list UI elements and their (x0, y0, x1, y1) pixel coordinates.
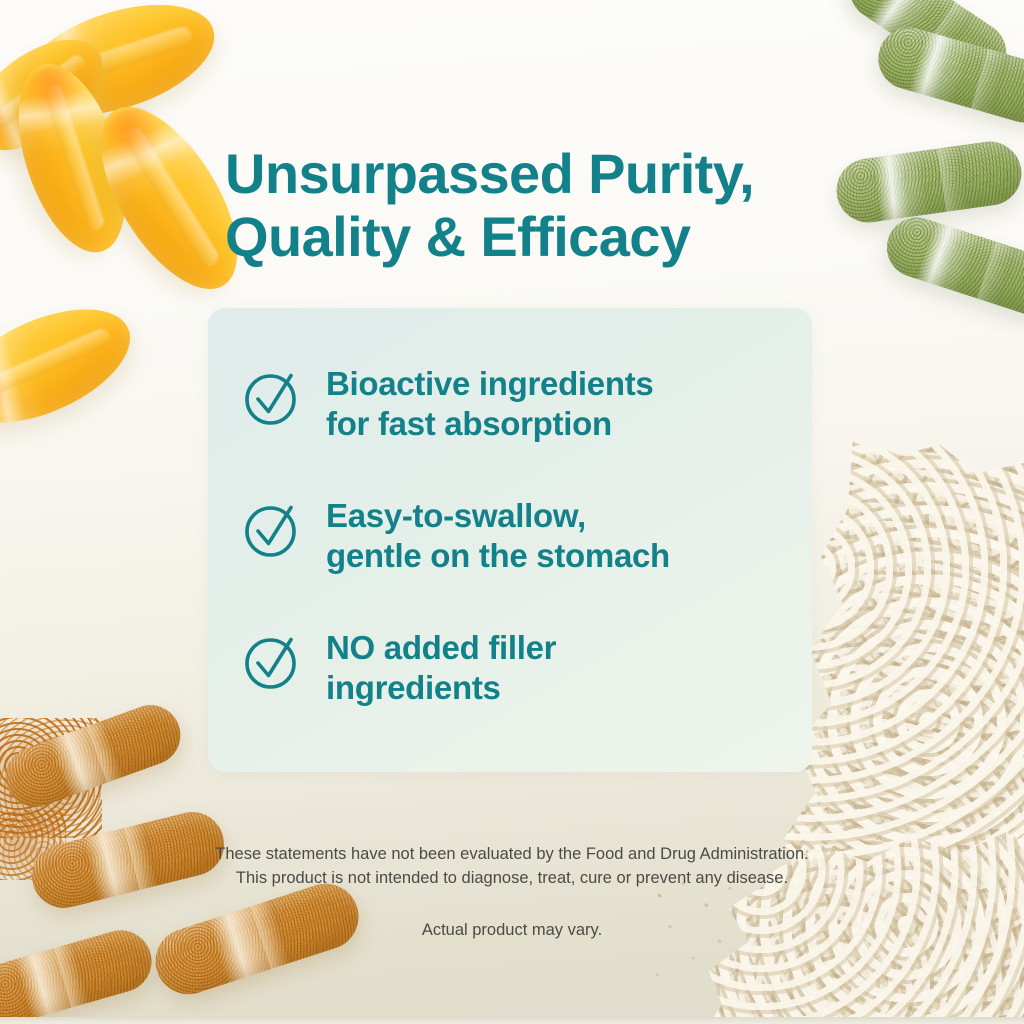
check-circle-icon (242, 630, 304, 692)
check-circle-icon (242, 498, 304, 560)
check-circle-icon (242, 366, 304, 428)
benefit-item: NO added filler ingredients (242, 626, 556, 707)
page-title-line-2: Quality & Efficacy (225, 205, 825, 268)
bottom-edge-strip (0, 1017, 1024, 1024)
page-title: Unsurpassed Purity,Quality & Efficacy (225, 142, 825, 269)
benefit-item: Easy-to-swallow, gentle on the stomach (242, 494, 670, 575)
fda-disclaimer-text: These statements have not been evaluated… (212, 842, 812, 890)
benefit-label: Easy-to-swallow, gentle on the stomach (326, 494, 670, 575)
benefits-panel: Bioactive ingredients for fast absorptio… (208, 308, 812, 772)
content-layer: Unsurpassed Purity,Quality & Efficacy Bi… (0, 0, 1024, 1024)
product-variation-note: Actual product may vary. (212, 918, 812, 942)
promo-graphic: Unsurpassed Purity,Quality & Efficacy Bi… (0, 0, 1024, 1024)
benefit-label: Bioactive ingredients for fast absorptio… (326, 362, 653, 443)
page-title-line-1: Unsurpassed Purity, (225, 142, 754, 205)
benefit-label: NO added filler ingredients (326, 626, 556, 707)
disclaimer: These statements have not been evaluated… (212, 842, 812, 942)
benefit-item: Bioactive ingredients for fast absorptio… (242, 362, 653, 443)
